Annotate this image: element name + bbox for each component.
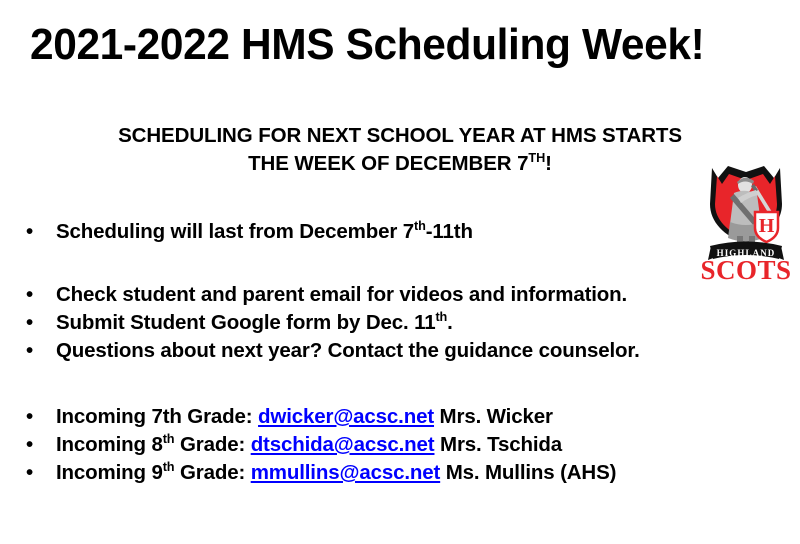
ordinal-suffix: th	[435, 309, 447, 324]
bullet-icon: •	[26, 218, 33, 246]
list-item: • Incoming 8th Grade: dtschida@acsc.net …	[0, 431, 800, 459]
highland-scots-logo: H HIGHLAND SCOTS	[698, 160, 794, 285]
subtitle-line-2-end: !	[545, 152, 552, 175]
ordinal-suffix: th	[414, 218, 426, 233]
list-item: • Scheduling will last from December 7th…	[0, 218, 800, 246]
email-link-tschida[interactable]: dtschida@acsc.net	[251, 433, 435, 456]
list-item-text-pre: Questions about next year? Contact the g…	[56, 339, 640, 362]
list-item-text: Incoming 7th Grade: dwicker@acsc.net Mrs…	[56, 405, 553, 428]
slide-canvas: 2021-2022 HMS Scheduling Week! SCHEDULIN…	[0, 0, 800, 544]
list-item: • Incoming 7th Grade: dwicker@acsc.net M…	[0, 403, 800, 431]
list-item-text-post: Ms. Mullins (AHS)	[440, 461, 616, 484]
list-item-text-pre: Incoming 9	[56, 461, 163, 484]
list-item-text-post: Mrs. Tschida	[434, 433, 562, 456]
list-item-text-pre: Check student and parent email for video…	[56, 283, 627, 306]
list-item-text-post: Mrs. Wicker	[434, 405, 553, 428]
subtitle-line-2-text: THE WEEK OF DECEMBER 7	[248, 152, 528, 175]
list-item-text: Submit Student Google form by Dec. 11th.	[56, 311, 453, 334]
subtitle: SCHEDULING FOR NEXT SCHOOL YEAR AT HMS S…	[0, 122, 800, 179]
logo-wordmark-text: SCOTS	[700, 255, 791, 285]
list-item-text: Questions about next year? Contact the g…	[56, 339, 640, 362]
email-link-mullins[interactable]: mmullins@acsc.net	[251, 461, 440, 484]
list-item-text: Incoming 9th Grade: mmullins@acsc.net Ms…	[56, 461, 616, 484]
page-title: 2021-2022 HMS Scheduling Week!	[30, 22, 749, 68]
list-item-text-post: .	[447, 311, 453, 334]
highland-scots-logo-icon: H HIGHLAND SCOTS	[698, 160, 794, 285]
logo-monogram-h: H	[759, 215, 775, 237]
list-item-text-post: -11th	[426, 220, 473, 243]
bullet-icon: •	[26, 281, 33, 309]
list-item-text: Check student and parent email for video…	[56, 283, 627, 306]
list-item-text-mid: Grade:	[174, 433, 250, 456]
bullet-icon: •	[26, 459, 33, 487]
bullet-group-scheduling-dates: • Scheduling will last from December 7th…	[0, 218, 800, 246]
list-item-text-pre: Incoming 7th Grade:	[56, 405, 258, 428]
list-item-text: Scheduling will last from December 7th-1…	[56, 220, 473, 243]
email-link-wicker[interactable]: dwicker@acsc.net	[258, 405, 434, 428]
bullet-icon: •	[26, 337, 33, 365]
ordinal-suffix: th	[163, 431, 175, 446]
list-item-text-pre: Scheduling will last from December 7	[56, 220, 414, 243]
bullet-group-counselor-contacts: • Incoming 7th Grade: dwicker@acsc.net M…	[0, 403, 800, 487]
subtitle-ordinal-suffix: TH	[528, 150, 545, 165]
bullet-icon: •	[26, 403, 33, 431]
bullet-icon: •	[26, 431, 33, 459]
list-item-text: Incoming 8th Grade: dtschida@acsc.net Mr…	[56, 433, 562, 456]
list-item: • Incoming 9th Grade: mmullins@acsc.net …	[0, 459, 800, 487]
list-item: • Questions about next year? Contact the…	[0, 337, 800, 365]
list-item: • Submit Student Google form by Dec. 11t…	[0, 309, 800, 337]
list-item-text-mid: Grade:	[174, 461, 250, 484]
subtitle-line-1: SCHEDULING FOR NEXT SCHOOL YEAR AT HMS S…	[0, 122, 800, 150]
ordinal-suffix: th	[163, 459, 175, 474]
list-item-text-pre: Submit Student Google form by Dec. 11	[56, 311, 435, 334]
bullet-icon: •	[26, 309, 33, 337]
list-item: • Check student and parent email for vid…	[0, 281, 800, 309]
bullet-group-action-items: • Check student and parent email for vid…	[0, 281, 800, 365]
list-item-text-pre: Incoming 8	[56, 433, 163, 456]
subtitle-line-2: THE WEEK OF DECEMBER 7TH!	[0, 150, 800, 178]
